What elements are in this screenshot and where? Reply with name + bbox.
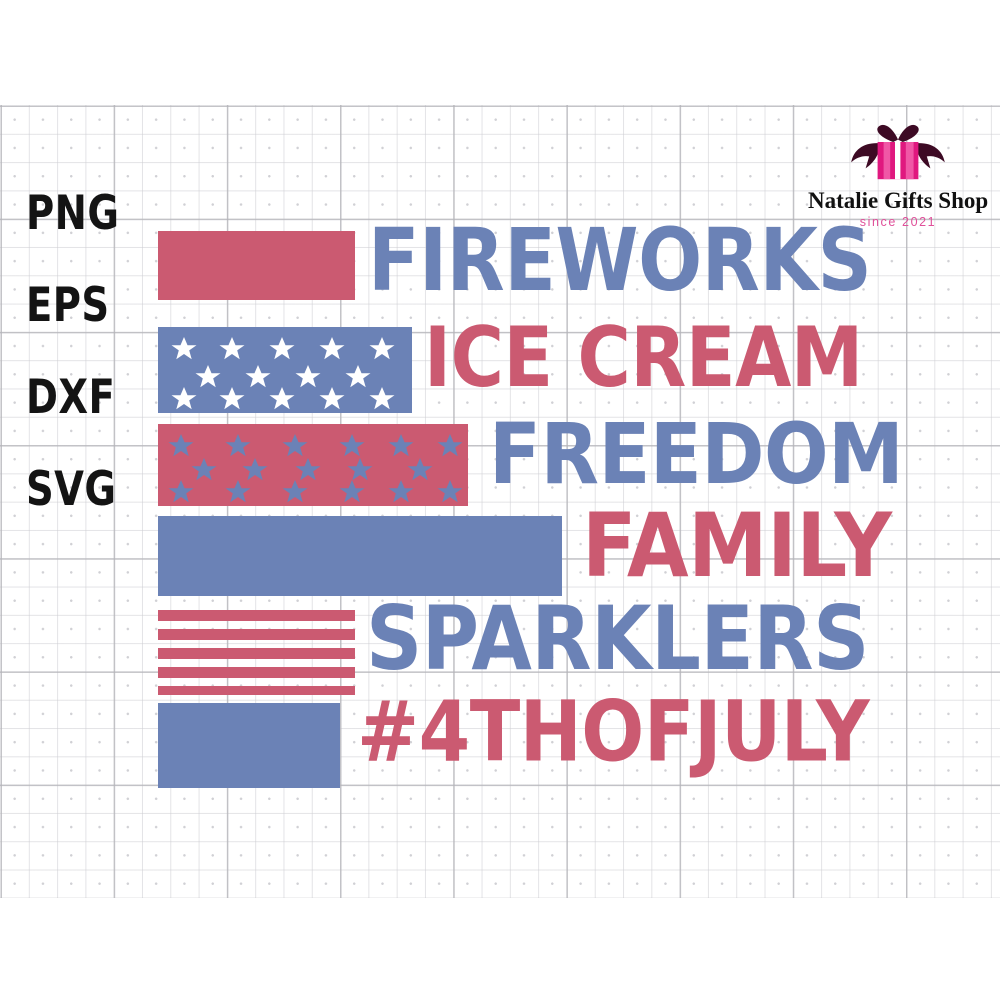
flag-row-solid-blue-short [158, 703, 340, 788]
flag-row-red-blue-stars [158, 424, 468, 506]
flag-row-blue-white-stars [158, 327, 412, 413]
product-mockup-canvas: PNG EPS DXF SVG Natalie Gifts Shop since… [0, 0, 1000, 1000]
flag-row-solid-blue [158, 516, 562, 596]
word-ice-cream: ICE CREAM [424, 323, 863, 393]
word-sparklers: SPARKLERS [366, 602, 869, 676]
word-family: FAMILY [582, 509, 892, 583]
flag-row-red-stripes [158, 610, 355, 695]
word-freedom: FREEDOM [489, 419, 903, 490]
word-hashtag-4th-of-july: #4THOFJULY [357, 698, 869, 769]
flag-row-solid-red [158, 231, 355, 300]
word-fireworks: FIREWORKS [368, 226, 871, 298]
